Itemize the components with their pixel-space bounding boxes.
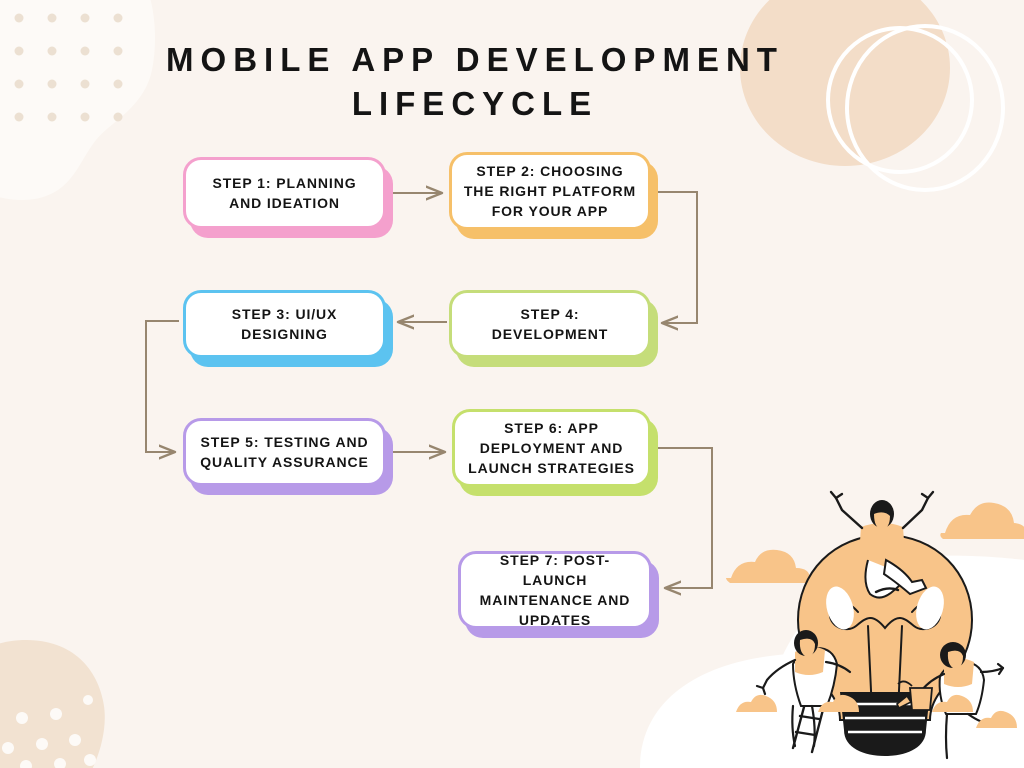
step-3-label: STEP 3: UI/UX DESIGNING: [232, 304, 338, 344]
step-2-label: STEP 2: CHOOSING THE RIGHT PLATFORM FOR …: [464, 161, 636, 221]
flow-step-5[interactable]: STEP 5: TESTING AND QUALITY ASSURANCE: [183, 418, 386, 486]
flow-step-6[interactable]: STEP 6: APP DEPLOYMENT AND LAUNCH STRATE…: [452, 409, 651, 487]
flow-step-2[interactable]: STEP 2: CHOOSING THE RIGHT PLATFORM FOR …: [449, 152, 651, 230]
page-title-line-1: MOBILE APP DEVELOPMENT: [140, 38, 810, 82]
flow-step-3[interactable]: STEP 3: UI/UX DESIGNING: [183, 290, 386, 358]
page-title-line-2: LIFECYCLE: [140, 82, 810, 126]
step-6-label: STEP 6: APP DEPLOYMENT AND LAUNCH STRATE…: [468, 418, 635, 478]
flow-step-1[interactable]: STEP 1: PLANNING AND IDEATION: [183, 157, 386, 229]
flow-step-4[interactable]: STEP 4: DEVELOPMENT: [449, 290, 651, 358]
step-4-label: STEP 4: DEVELOPMENT: [492, 304, 608, 344]
flow-step-7[interactable]: STEP 7: POST-LAUNCH MAINTENANCE AND UPDA…: [458, 551, 652, 629]
step-5-label: STEP 5: TESTING AND QUALITY ASSURANCE: [200, 432, 369, 472]
step-7-label: STEP 7: POST-LAUNCH MAINTENANCE AND UPDA…: [471, 550, 639, 630]
step-1-label: STEP 1: PLANNING AND IDEATION: [212, 173, 356, 213]
page-title: MOBILE APP DEVELOPMENT LIFECYCLE: [140, 38, 810, 126]
